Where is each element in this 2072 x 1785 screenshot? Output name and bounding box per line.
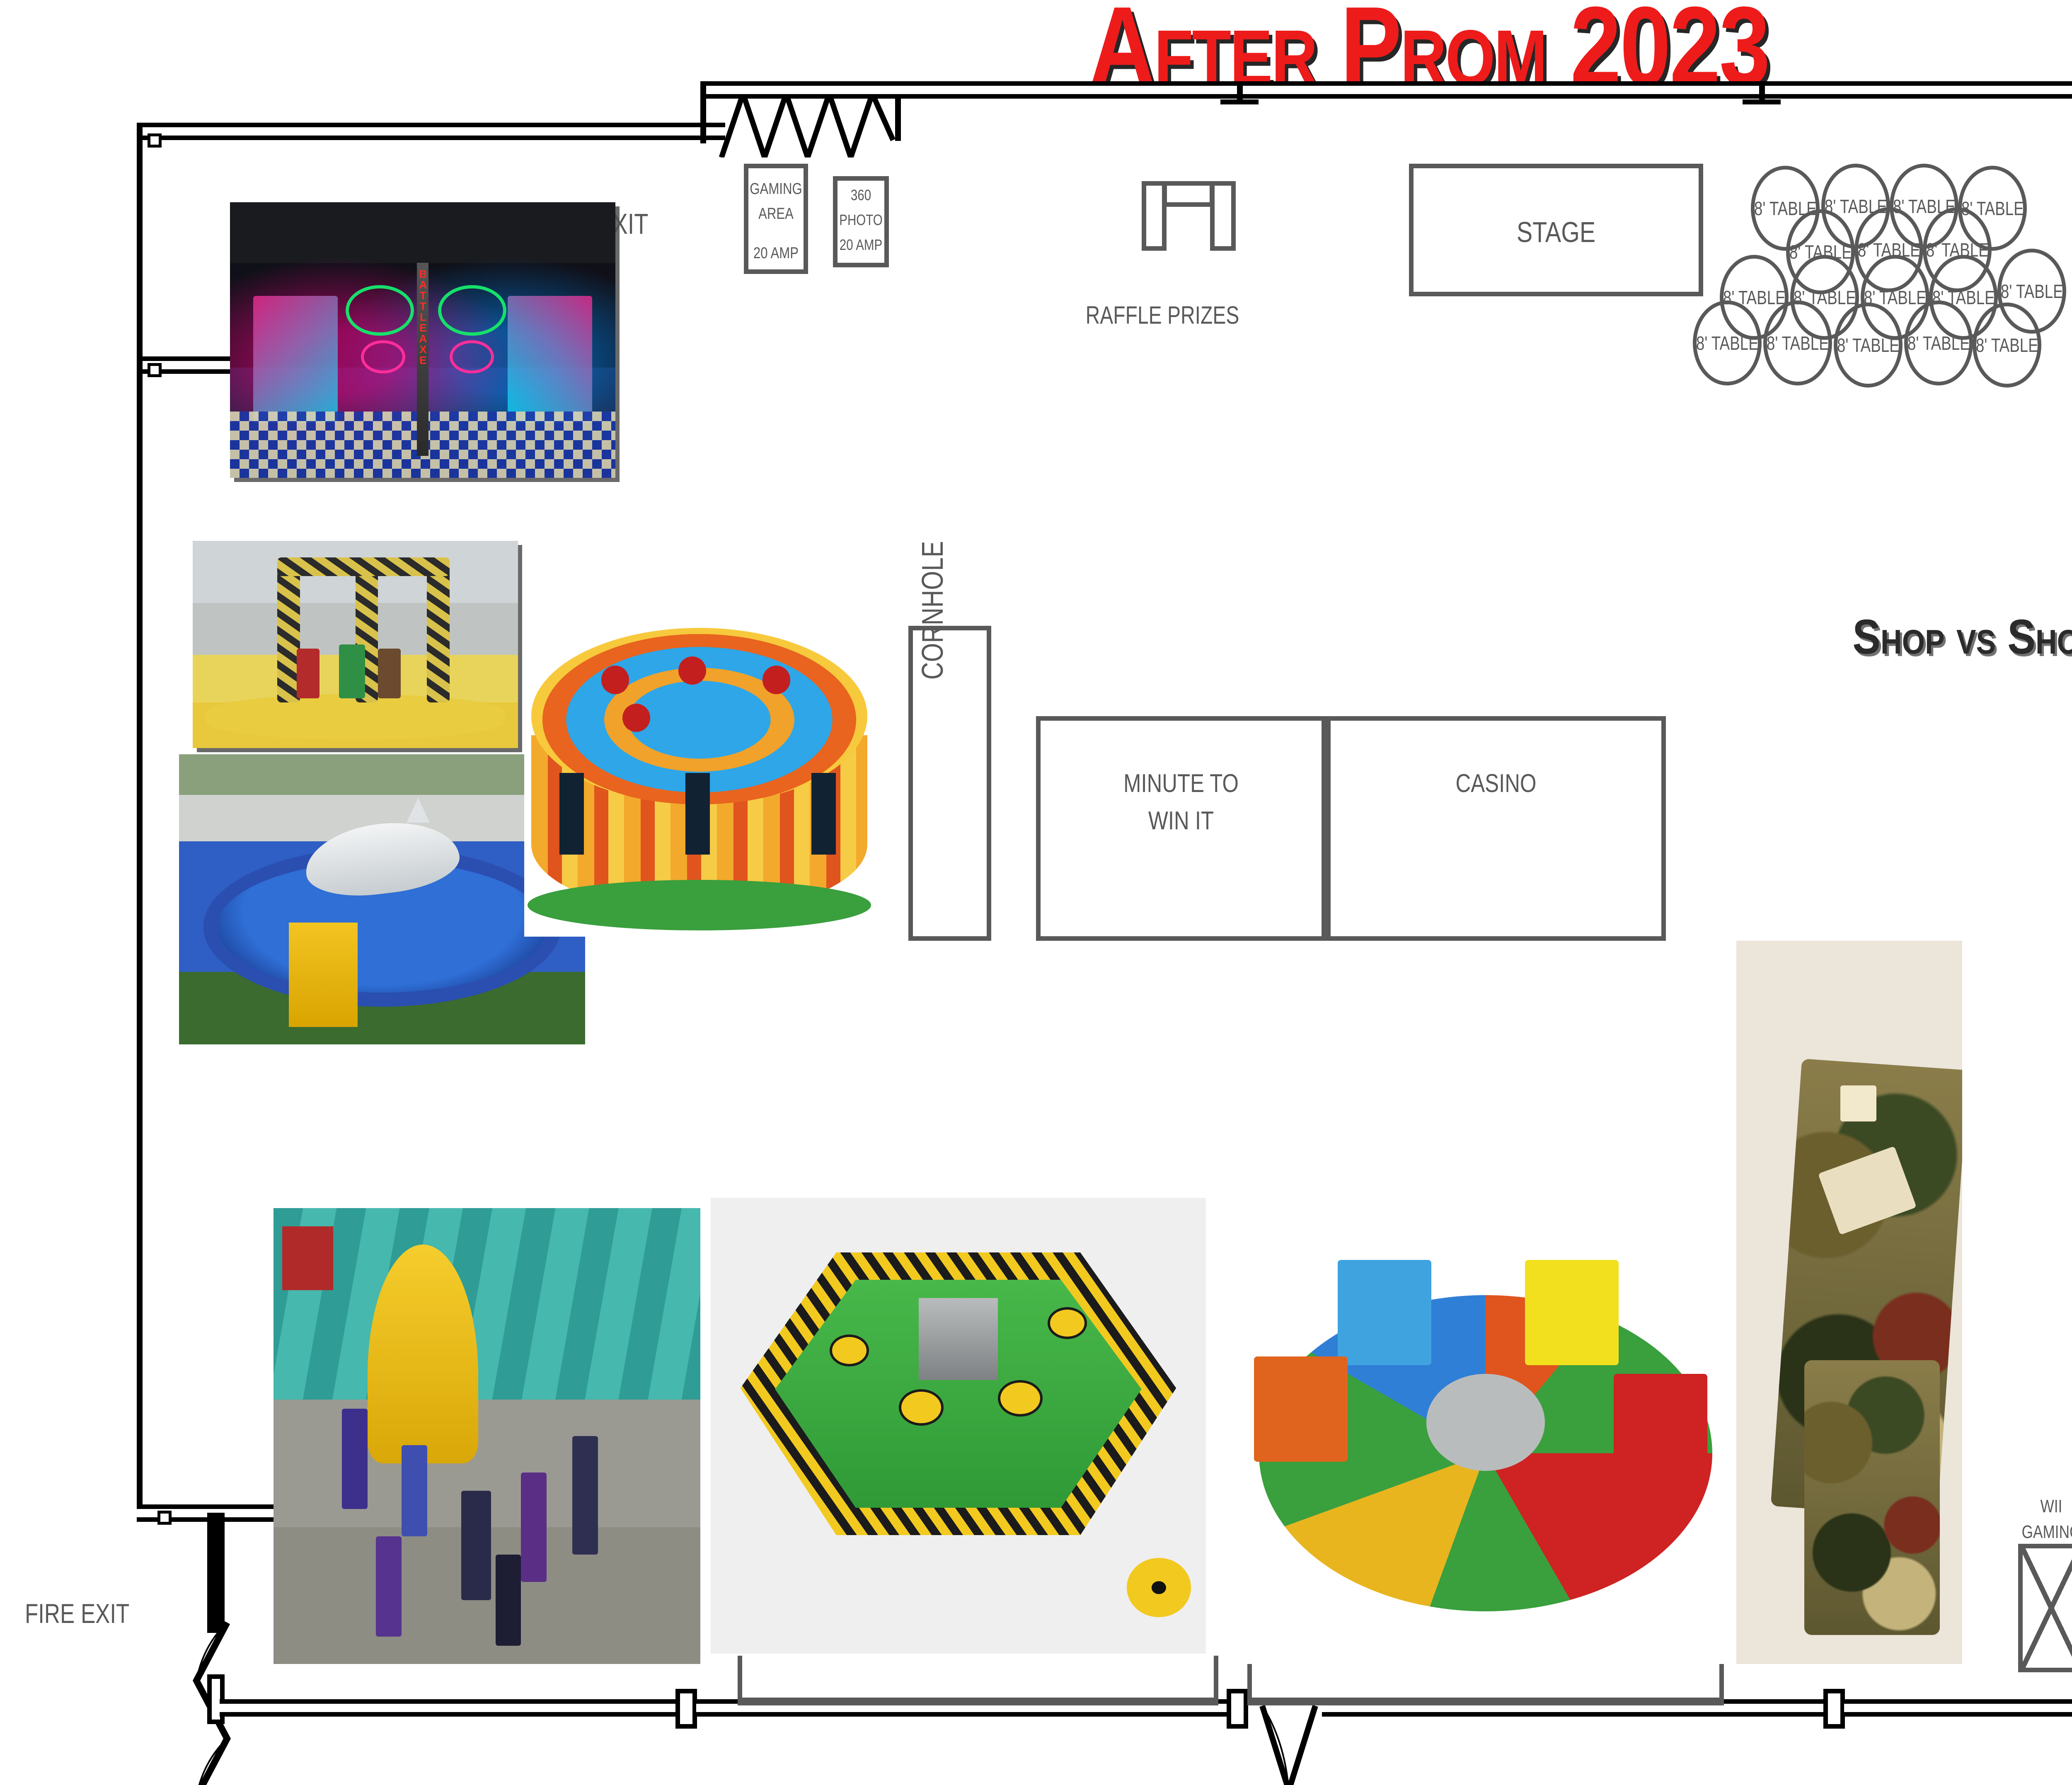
door-swing-zigzag-top-left — [719, 91, 918, 157]
photo-hungry-hippos-arena — [1239, 1225, 1732, 1664]
photo-gladiator-joust-inflatable — [193, 541, 518, 748]
photo-360-label-line2: PHOTO — [838, 211, 884, 229]
schedule-line: Limbo @ 2 AM — [1621, 675, 2072, 721]
wall-left-upper — [137, 123, 143, 371]
wall-bl-down — [207, 1513, 225, 1633]
food-court-table: 8' TABLE — [1693, 300, 1762, 385]
table-label: 8' TABLE — [1976, 334, 2038, 356]
raffle-prizes-label: RAFFLE PRIZES — [1080, 301, 1245, 329]
meltdown-radiation-logo — [1127, 1558, 1191, 1617]
wall-bottom-1 — [220, 1699, 680, 1717]
schedule-line: Hypnotist @ 3:30 AM — [1621, 794, 2072, 840]
column-marker-4 — [148, 363, 162, 377]
column-marker-6 — [675, 1689, 697, 1729]
minute-to-win-it-label-line2: WIN IT — [1062, 806, 1300, 836]
wall-top-left-return — [700, 81, 706, 143]
photo-delta-force-obstacle-course — [1736, 941, 1962, 1664]
photo-meltdown-arena — [711, 1198, 1206, 1654]
dimension-bracket-left — [738, 1656, 1218, 1705]
photo-360-label-line1: 360 — [838, 186, 884, 204]
table-label: 8' TABLE — [1696, 332, 1759, 354]
floor-plan-canvas: After Prom 2023 — [0, 0, 2072, 1785]
wall-step-1 — [895, 95, 901, 141]
column-marker-5 — [157, 1511, 172, 1525]
gaming-area-label-amps: 20 AMP — [750, 245, 802, 262]
battle-axe-sign-text: BATTLEAXE — [417, 269, 429, 366]
column-marker-1 — [148, 133, 162, 148]
wii-gaming-label-line2: GAMING — [2002, 1522, 2072, 1543]
schedule-line: Shop vs Shop Obstacle Course Challenge @… — [1621, 613, 2072, 661]
table-label: 8' TABLE — [2001, 280, 2063, 303]
table-label: 8' TABLE — [1907, 332, 1970, 354]
food-court-table: 8' TABLE — [1763, 300, 1832, 385]
photo-whack-a-mole-inflatable — [524, 622, 874, 937]
table-label: 8' TABLE — [1767, 332, 1829, 354]
column-tick-2-base — [1743, 99, 1781, 104]
wall-top-left — [137, 123, 725, 140]
fire-exit-label: FIRE EXIT — [25, 1598, 129, 1629]
schedule-line: Prizes @ 4:30 AM — [1621, 854, 2072, 900]
photo-battle-axe-throwing: BATTLEAXE — [230, 202, 615, 478]
raffle-table-top — [1162, 181, 1214, 207]
wall-bottom-4 — [1844, 1699, 2072, 1717]
column-tick-1-base — [1220, 99, 1259, 104]
stage-label: STAGE — [1435, 216, 1677, 249]
photo-360-label-amps: 20 AMP — [838, 236, 884, 254]
photo-bounce-house-outdoor — [274, 1208, 700, 1664]
column-marker-8 — [1823, 1689, 1845, 1729]
wall-top-main — [700, 81, 2072, 99]
wii-gaming-label-line1: WII — [2002, 1496, 2072, 1517]
food-court-table: 8' TABLE — [1904, 300, 1973, 385]
wall-left-main — [137, 356, 143, 1513]
minute-to-win-it-label-line1: MINUTE TO — [1062, 769, 1300, 798]
gaming-area-label-line2: AREA — [750, 205, 802, 223]
table-label: 8' TABLE — [1837, 334, 1900, 356]
cornhole-label: CORNHOLE — [916, 421, 950, 680]
event-schedule: Shop vs Shop Obstacle Course Challenge @… — [1429, 613, 2072, 913]
food-court-table: 8' TABLE — [1973, 303, 2041, 388]
gaming-area-label-line1: GAMING — [750, 180, 802, 198]
booth-wii-gaming — [2018, 1544, 2072, 1672]
schedule-line: Musical Chairs @ 2:30 AM — [1621, 734, 2072, 781]
food-court-table: 8' TABLE — [1834, 303, 1903, 388]
